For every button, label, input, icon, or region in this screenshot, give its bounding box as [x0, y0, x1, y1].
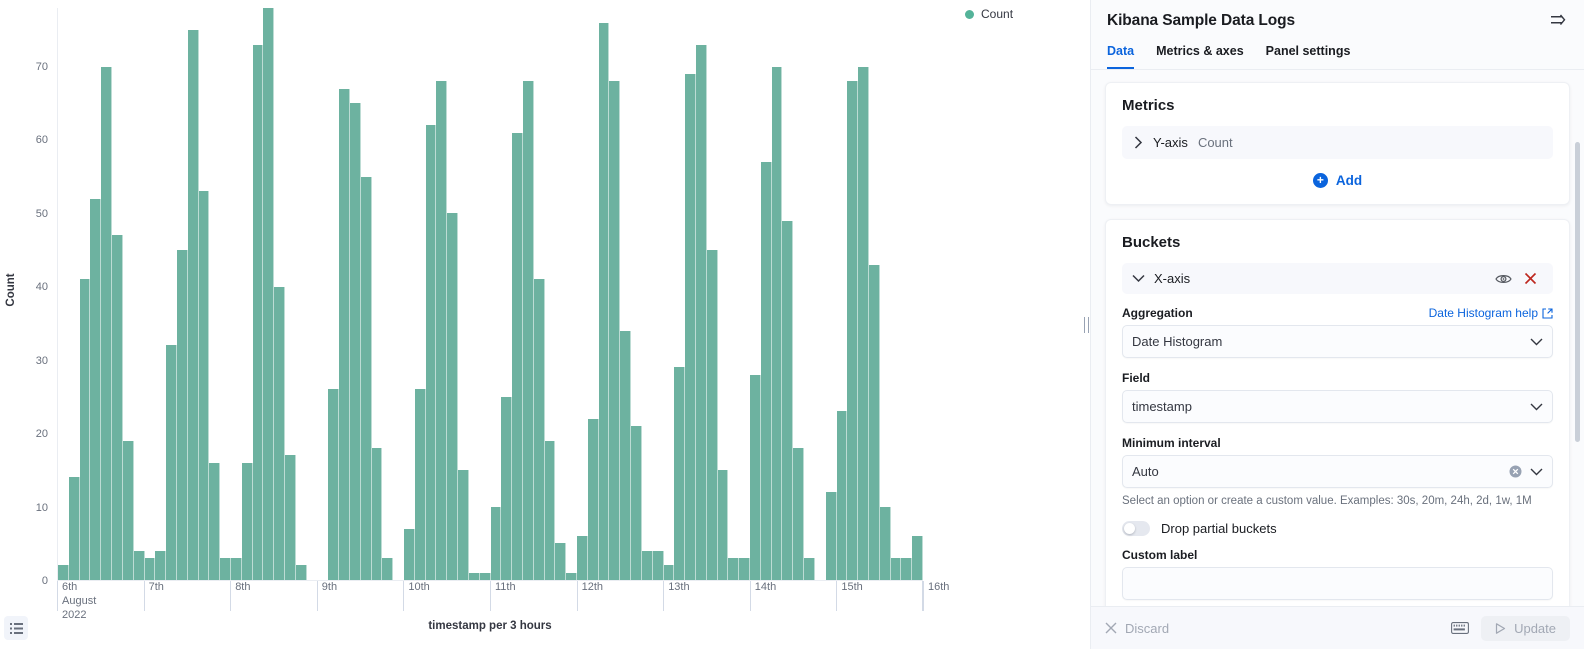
bar[interactable]: [209, 463, 220, 580]
bar[interactable]: [631, 426, 642, 580]
minimum-interval-select[interactable]: Auto: [1122, 455, 1553, 488]
metrics-heading: Metrics: [1122, 97, 1553, 114]
bar[interactable]: [372, 448, 383, 580]
bar[interactable]: [296, 565, 307, 580]
bar[interactable]: [447, 213, 458, 580]
bar[interactable]: [891, 558, 902, 580]
update-button[interactable]: Update: [1481, 616, 1570, 641]
bar-series: [58, 8, 923, 580]
metric-row-y-axis[interactable]: Y-axis Count: [1122, 126, 1553, 159]
x-axis-tick-label: 16th: [923, 581, 949, 611]
bar[interactable]: [231, 558, 242, 580]
clear-icon[interactable]: [1509, 465, 1522, 478]
x-axis-tick-label: 6thAugust2022: [57, 581, 96, 611]
bar[interactable]: [155, 551, 166, 580]
bar[interactable]: [166, 345, 177, 580]
x-axis-tick-label: 12th: [577, 581, 603, 611]
bar[interactable]: [285, 455, 296, 580]
x-axis-tick-line2: August: [62, 595, 96, 609]
drop-partial-buckets-label: Drop partial buckets: [1161, 521, 1277, 536]
x-axis-ticks: 6thAugust20227th8th9th10th11th12th13th14…: [57, 581, 923, 623]
x-axis-tick-line1: 10th: [408, 581, 429, 595]
bar[interactable]: [361, 177, 372, 580]
minimum-interval-label: Minimum interval: [1122, 436, 1553, 450]
bar[interactable]: [837, 411, 848, 580]
x-axis-tick-line1: 6th: [62, 581, 96, 595]
chart-legend: Count: [965, 7, 1013, 21]
remove-bucket-icon[interactable]: [1518, 272, 1543, 285]
y-axis-tick-label: 50: [36, 208, 48, 220]
custom-label-input[interactable]: [1122, 567, 1553, 600]
tab-panel-settings[interactable]: Panel settings: [1266, 44, 1351, 69]
bar[interactable]: [826, 492, 837, 580]
aggregation-value: Date Histogram: [1132, 334, 1530, 349]
bucket-row-x-axis[interactable]: X-axis: [1122, 263, 1553, 294]
bar[interactable]: [718, 470, 729, 580]
bar[interactable]: [804, 558, 815, 580]
x-axis-tick-label: 13th: [663, 581, 689, 611]
drop-partial-buckets-toggle[interactable]: [1122, 521, 1150, 536]
bar[interactable]: [58, 565, 69, 580]
bar[interactable]: [793, 448, 804, 580]
x-axis-tick-line1: 15th: [841, 581, 862, 595]
buckets-heading: Buckets: [1122, 234, 1553, 251]
bar[interactable]: [220, 558, 231, 580]
bar[interactable]: [177, 250, 188, 580]
bar[interactable]: [674, 367, 685, 580]
date-histogram-help-link[interactable]: Date Histogram help: [1429, 306, 1553, 320]
chevron-down-icon: [1530, 403, 1543, 411]
bar[interactable]: [123, 441, 134, 580]
bar[interactable]: [501, 397, 512, 580]
chevron-down-icon: [1530, 338, 1543, 346]
x-axis-tick-line1: 7th: [149, 581, 164, 595]
bar[interactable]: [901, 558, 912, 580]
bar[interactable]: [847, 81, 858, 580]
buckets-card: Buckets X-axis: [1105, 219, 1570, 606]
chevron-down-icon: [1530, 468, 1543, 476]
x-axis-tick-line1: 8th: [235, 581, 250, 595]
play-icon: [1495, 623, 1506, 634]
bar[interactable]: [436, 81, 447, 580]
keyboard-shortcut-icon[interactable]: [1449, 620, 1471, 636]
field-select[interactable]: timestamp: [1122, 390, 1553, 423]
x-axis-title: timestamp per 3 hours: [57, 620, 923, 632]
bar[interactable]: [555, 543, 566, 580]
y-axis-ticks: 010203040506070: [0, 8, 57, 581]
bar[interactable]: [199, 191, 210, 580]
plot-area: [57, 8, 923, 581]
bar[interactable]: [912, 536, 923, 580]
bar[interactable]: [750, 375, 761, 580]
bar[interactable]: [782, 221, 793, 580]
x-axis-tick-line1: 13th: [668, 581, 689, 595]
bar[interactable]: [696, 45, 707, 580]
bar[interactable]: [739, 558, 750, 580]
bar[interactable]: [480, 573, 491, 580]
editor-panel: Kibana Sample Data Logs DataMetrics & ax…: [1090, 0, 1584, 649]
bar[interactable]: [145, 558, 156, 580]
bar[interactable]: [242, 463, 253, 580]
update-label: Update: [1514, 621, 1556, 636]
bar[interactable]: [328, 389, 339, 580]
bar[interactable]: [134, 551, 145, 580]
bar[interactable]: [545, 441, 556, 580]
bar[interactable]: [274, 287, 285, 580]
bar[interactable]: [664, 565, 675, 580]
bar[interactable]: [90, 199, 101, 580]
x-axis-tick-line1: 11th: [495, 581, 516, 595]
bar[interactable]: [404, 529, 415, 580]
bar[interactable]: [588, 419, 599, 580]
bar[interactable]: [653, 551, 664, 580]
y-axis-tick-label: 20: [36, 428, 48, 440]
x-axis-tick-line1: 14th: [755, 581, 776, 595]
bar[interactable]: [577, 536, 588, 580]
x-axis-tick-label: 7th: [144, 581, 164, 611]
y-axis-tick-label: 40: [36, 281, 48, 293]
x-axis-tick-label: 14th: [750, 581, 776, 611]
bar[interactable]: [728, 558, 739, 580]
metric-row-value: Count: [1198, 135, 1233, 150]
bar[interactable]: [609, 81, 620, 580]
chevron-right-icon: [1134, 136, 1143, 149]
add-metric-label: Add: [1336, 173, 1362, 188]
bar[interactable]: [458, 470, 469, 580]
date-histogram-help-label: Date Histogram help: [1429, 306, 1538, 320]
plus-circle-icon: +: [1313, 173, 1328, 188]
bar[interactable]: [415, 389, 426, 580]
bar[interactable]: [707, 250, 718, 580]
external-link-icon: [1542, 308, 1553, 319]
bar[interactable]: [599, 23, 610, 580]
custom-label-label: Custom label: [1122, 548, 1553, 562]
y-axis-tick-label: 60: [36, 134, 48, 146]
panel-tabs: DataMetrics & axesPanel settings: [1091, 34, 1584, 70]
bar[interactable]: [101, 67, 112, 580]
minimum-interval-value: Auto: [1132, 464, 1509, 479]
bar[interactable]: [761, 162, 772, 580]
bar[interactable]: [534, 279, 545, 580]
metrics-card: Metrics Y-axis Count + Add: [1105, 82, 1570, 205]
panel-header: Kibana Sample Data Logs: [1091, 0, 1584, 34]
x-axis-tick-label: 9th: [317, 581, 337, 611]
minimum-interval-hint: Select an option or create a custom valu…: [1122, 494, 1553, 510]
field-label: Field: [1122, 371, 1553, 385]
discard-button[interactable]: Discard: [1105, 621, 1169, 636]
resize-grip-icon: [1084, 317, 1089, 333]
tab-data[interactable]: Data: [1107, 44, 1134, 69]
bar[interactable]: [339, 89, 350, 580]
x-axis-tick-label: 15th: [836, 581, 862, 611]
eye-icon[interactable]: [1489, 273, 1518, 285]
drop-partial-buckets-row[interactable]: Drop partial buckets: [1122, 521, 1553, 536]
panel-body: Metrics Y-axis Count + Add Bu: [1091, 70, 1584, 606]
panel-scrollbar[interactable]: [1575, 142, 1580, 442]
x-axis-tick-label: 10th: [403, 581, 429, 611]
legend-label: Count: [981, 7, 1013, 21]
bar[interactable]: [80, 279, 91, 580]
bucket-row-label: X-axis: [1154, 271, 1489, 286]
legend-list-toggle[interactable]: [4, 616, 28, 640]
bar[interactable]: [112, 235, 123, 580]
bar[interactable]: [469, 573, 480, 580]
metric-row-label: Y-axis: [1153, 135, 1188, 150]
field-value: timestamp: [1132, 399, 1530, 414]
x-axis-tick-line1: 16th: [928, 581, 949, 595]
x-axis-tick-label: 8th: [230, 581, 250, 611]
legend-color-dot: [965, 10, 974, 19]
bar[interactable]: [858, 67, 869, 580]
bar[interactable]: [69, 477, 80, 580]
tab-metrics-axes[interactable]: Metrics & axes: [1156, 44, 1244, 69]
chevron-down-icon[interactable]: [1132, 274, 1145, 283]
x-axis-tick-line1: 9th: [322, 581, 337, 595]
footer-actions: Update: [1449, 616, 1570, 641]
panel-resize-handle[interactable]: [1083, 0, 1090, 649]
x-axis-tick-label: 11th: [490, 581, 516, 611]
bar[interactable]: [491, 507, 502, 580]
y-axis-tick-label: 30: [36, 355, 48, 367]
app-root: Count Count 010203040506070 6thAugust202…: [0, 0, 1584, 649]
discard-label: Discard: [1125, 621, 1169, 636]
bar[interactable]: [880, 507, 891, 580]
bar[interactable]: [188, 30, 199, 580]
collapse-panel-icon[interactable]: [1549, 12, 1568, 34]
panel-footer: Discard: [1091, 606, 1584, 649]
y-axis-tick-label: 70: [36, 61, 48, 73]
bar[interactable]: [512, 133, 523, 580]
bar[interactable]: [772, 67, 783, 580]
bar[interactable]: [566, 573, 577, 580]
bar[interactable]: [426, 125, 437, 580]
aggregation-select[interactable]: Date Histogram: [1122, 325, 1553, 358]
bar[interactable]: [685, 74, 696, 580]
panel-title: Kibana Sample Data Logs: [1107, 12, 1295, 30]
bar[interactable]: [642, 551, 653, 580]
bar[interactable]: [263, 8, 274, 580]
visualization-chart-pane: Count Count 010203040506070 6thAugust202…: [0, 0, 1090, 649]
y-axis-tick-label: 0: [42, 575, 48, 587]
bar[interactable]: [523, 81, 534, 580]
aggregation-label-row: Aggregation Date Histogram help: [1122, 306, 1553, 325]
toggle-knob: [1124, 523, 1135, 534]
bar[interactable]: [253, 45, 264, 580]
close-icon: [1105, 622, 1117, 634]
add-metric-button[interactable]: + Add: [1122, 159, 1553, 190]
x-axis-tick-line1: 12th: [582, 581, 603, 595]
bar[interactable]: [382, 558, 393, 580]
bar[interactable]: [869, 265, 880, 580]
aggregation-label: Aggregation: [1122, 306, 1193, 320]
bar[interactable]: [350, 103, 361, 580]
bar[interactable]: [620, 331, 631, 580]
y-axis-tick-label: 10: [36, 502, 48, 514]
